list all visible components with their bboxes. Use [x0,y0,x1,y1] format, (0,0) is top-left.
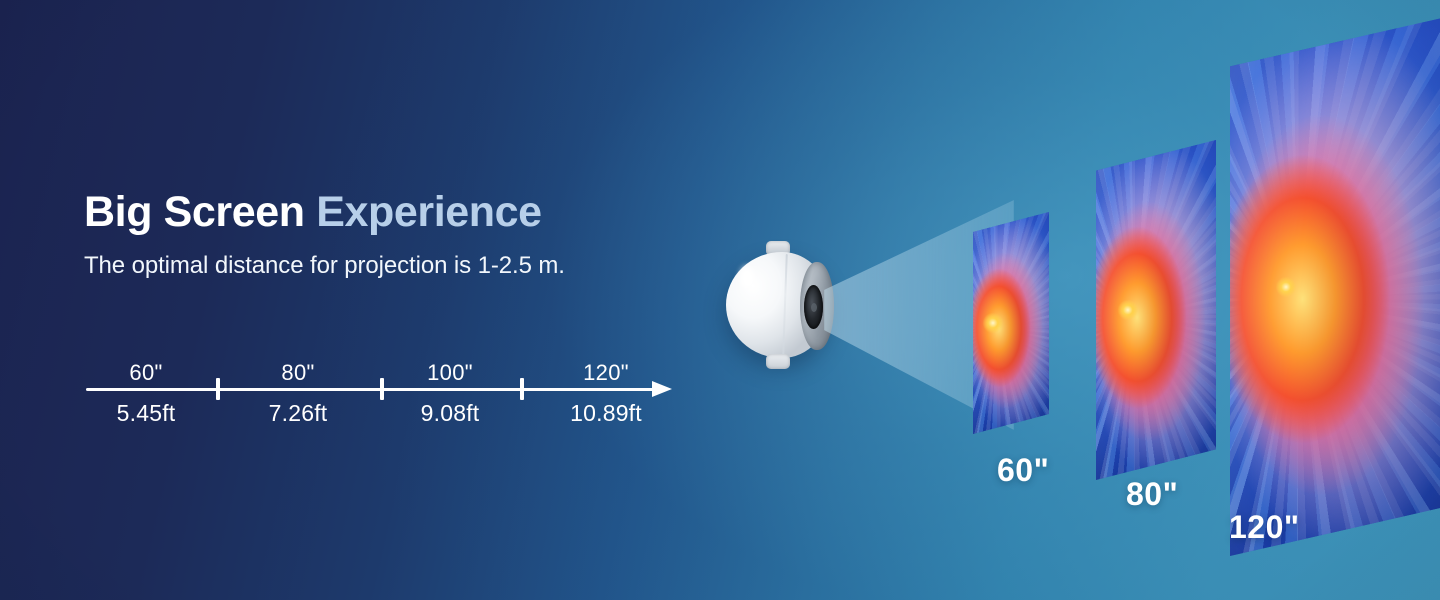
scale-tick [380,378,384,400]
screen-size-label-80: 80" [1126,476,1178,513]
headline-primary: Big Screen [84,188,316,236]
scale-size-label: 60" [129,360,162,386]
projector-highlight [740,266,754,288]
screen-sheen [1230,18,1440,556]
scale-tick [216,378,220,400]
page-title: Big Screen Experience [84,190,724,236]
screen-size-label-120: 120" [1229,509,1300,546]
headline-accent: Experience [316,188,541,236]
scale-axis-line [86,388,658,391]
scale-distance-label: 10.89ft [570,400,642,427]
projection-screen-60 [973,212,1049,434]
background-vignette [0,0,1440,600]
projection-screen-80 [1096,140,1216,480]
subtitle: The optimal distance for projection is 1… [84,252,724,280]
screen-sheen [1096,140,1216,480]
distance-scale: 60" 80" 100" 120" 5.45ft 7.26ft 9.08ft 1… [86,360,686,440]
marketing-banner: Big Screen Experience The optimal distan… [0,0,1440,600]
scale-size-label: 100" [427,360,473,386]
projector-mount-bottom [766,354,790,369]
scale-tick [520,378,524,400]
scale-size-label: 120" [583,360,629,386]
projection-screen-120 [1230,18,1440,556]
screen-size-label-60: 60" [997,452,1049,489]
scale-size-label: 80" [281,360,314,386]
scale-distance-label: 7.26ft [269,400,328,427]
projector-lens-reflection [811,303,817,312]
scale-distance-label: 9.08ft [421,400,480,427]
scale-distance-label: 5.45ft [117,400,176,427]
screen-sheen [973,212,1049,434]
scale-arrow-icon [652,381,672,397]
copy-block: Big Screen Experience The optimal distan… [84,190,724,280]
